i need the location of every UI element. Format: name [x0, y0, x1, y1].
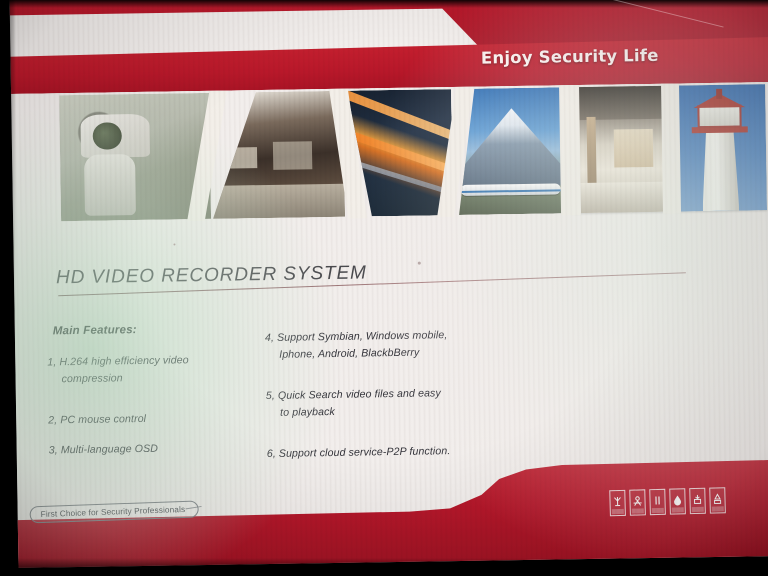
features-heading: Main Features:: [53, 322, 253, 337]
dark-left-edge: [0, 0, 16, 576]
feature-text: 1, H.264 high efficiency video: [47, 355, 189, 369]
lighthouse-lantern-shape: [697, 105, 742, 128]
feature-text: 4, Support Symbian, Windows mobile,: [265, 330, 448, 345]
recyclable-symbol: [709, 487, 726, 513]
fragile-symbol: [609, 490, 626, 516]
this-side-up-symbol: [649, 489, 666, 515]
handle-with-care-symbol: [629, 489, 646, 515]
feature-item: 5, Quick Search video files and easy to …: [252, 376, 513, 431]
product-box-face: Enjoy Security Life: [10, 0, 768, 568]
camera-body-shape: [84, 155, 136, 216]
photo-shopping-mall-concourse: [571, 86, 669, 213]
features-left-column: Main Features: 1, H.264 high efficiency …: [43, 322, 255, 464]
paper-speck: [173, 243, 175, 245]
paper-speck: [418, 262, 421, 265]
photo-night-city-traffic: [347, 89, 453, 217]
features-right-column: 4, Support Symbian, Windows mobile, Ipho…: [251, 318, 513, 467]
dark-bottom-edge: [0, 558, 768, 576]
feature-text-continued: Iphone, Android, BlackbBerry: [265, 346, 511, 361]
photo-building-interior: [211, 91, 345, 219]
dark-top-edge: [0, 0, 768, 8]
photo-mount-fuji-bullet-train: [457, 87, 567, 215]
feature-text: 3, Multi-language OSD: [49, 443, 158, 457]
lighthouse-tower-shape: [701, 122, 739, 211]
photographed-scene: Enjoy Security Life: [0, 0, 768, 576]
do-not-stack-symbol: [689, 488, 706, 514]
feature-item: 4, Support Symbian, Windows mobile, Ipho…: [251, 318, 512, 373]
feature-text-continued: to playback: [266, 404, 512, 419]
feature-text: 2, PC mouse control: [48, 413, 146, 427]
feature-item: 1, H.264 high efficiency video compressi…: [43, 343, 254, 397]
features-section: Main Features: 1, H.264 high efficiency …: [15, 314, 768, 446]
feature-text: 6, Support cloud service-P2P function.: [267, 445, 451, 460]
feature-item: 3, Multi-language OSD: [44, 431, 254, 457]
keep-dry-symbol: [669, 488, 686, 514]
feature-item: 2, PC mouse control: [44, 401, 254, 427]
photo-lighthouse: [673, 84, 767, 211]
handling-symbols-row: [609, 487, 726, 516]
brand-slogan: Enjoy Security Life: [481, 46, 659, 68]
photo-ptz-security-camera: [59, 93, 211, 221]
feature-item: 6, Support cloud service-P2P function.: [253, 434, 513, 461]
feature-text: 5, Quick Search video files and easy: [266, 387, 441, 402]
photo-strip: [59, 85, 725, 221]
camera-lens-shape: [93, 122, 122, 150]
feature-text-continued: compression: [48, 371, 254, 386]
